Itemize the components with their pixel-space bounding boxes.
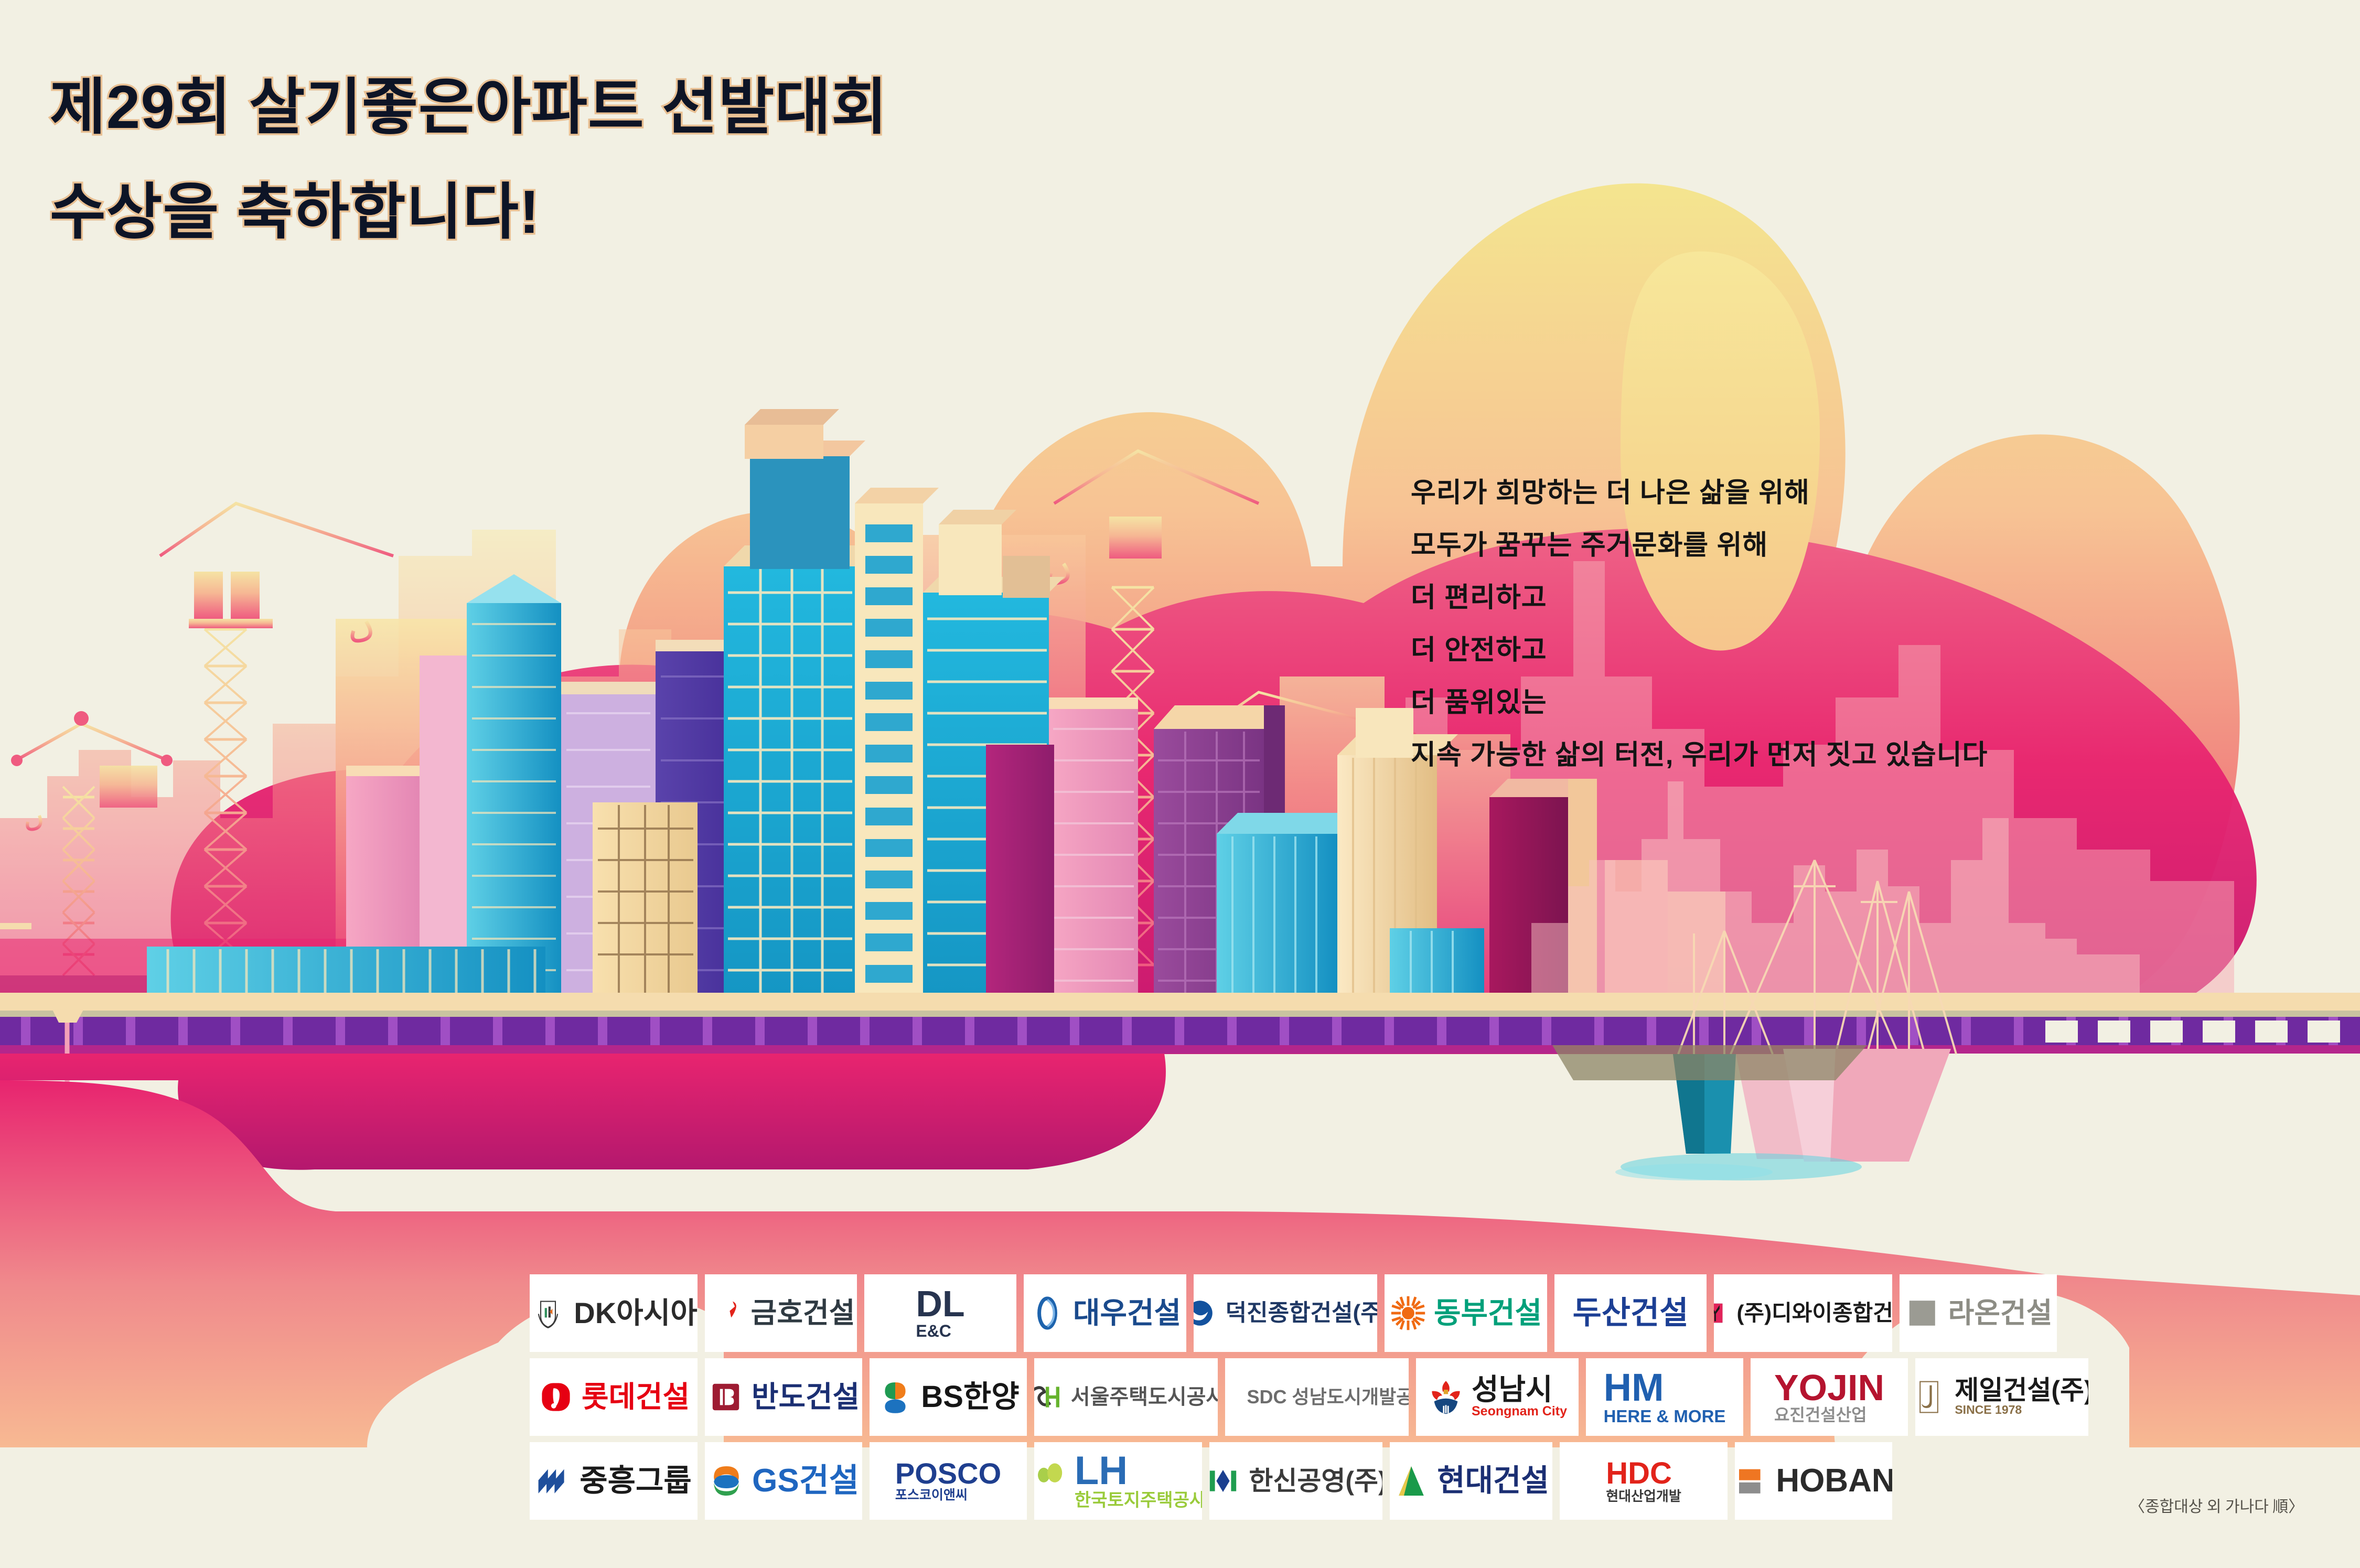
poster-canvas: 제29회 살기좋은아파트 선발대회 수상을 축하합니다! 우리가 희망하는 더 … — [0, 0, 2360, 1568]
logo-cell[interactable]: YOJIN요진건설산업 — [1751, 1358, 1908, 1436]
logo-subtitle: E&C — [916, 1322, 951, 1340]
logo-cell[interactable]: 금호건설 — [705, 1274, 857, 1352]
logo-text-stack: 중흥그룹 — [580, 1466, 691, 1496]
logo-text-stack: HDC현대산업개발 — [1606, 1458, 1681, 1504]
logo-text-stack: HOBAN — [1776, 1465, 1892, 1497]
logo-cell[interactable]: 현대건설 — [1390, 1442, 1552, 1520]
logo-name: 덕진종합건설(주) — [1226, 1302, 1377, 1325]
logo-cell[interactable]: DLE&C — [864, 1274, 1016, 1352]
logo-text-stack: HMHERE & MORE — [1604, 1368, 1726, 1426]
logo-cell[interactable]: HOBAN — [1735, 1442, 1892, 1520]
logo-cell[interactable]: HMHERE & MORE — [1586, 1358, 1743, 1436]
logo-name: 두산건설 — [1573, 1297, 1689, 1329]
bs-tricolor-swirl-icon — [877, 1379, 914, 1415]
hanshin-bars-icon — [1209, 1463, 1241, 1499]
logo-cell[interactable]: 중흥그룹 — [530, 1442, 698, 1520]
logo-cell[interactable]: GS건설 — [705, 1442, 862, 1520]
logo-name: HDC — [1606, 1458, 1672, 1489]
logo-text-stack: 한신공영(주) — [1249, 1468, 1382, 1494]
logo-text-stack: 반도건설 — [752, 1382, 860, 1412]
logo-text-stack: BS한양 — [921, 1382, 1019, 1412]
logo-name: LH — [1075, 1451, 1128, 1491]
logo-text-stack: 대우건설 — [1073, 1298, 1181, 1328]
body-copy: 우리가 희망하는 더 나은 삶을 위해 모두가 꿈꾸는 주거문화를 위해 더 편… — [1411, 467, 2302, 781]
logo-name: YOJIN — [1774, 1369, 1884, 1406]
logo-subtitle: 요진건설산업 — [1774, 1406, 1867, 1424]
logo-text-stack: 두산건설 — [1573, 1297, 1689, 1329]
logo-name: 대우건설 — [1073, 1298, 1181, 1328]
logo-text-stack: 라온건설 — [1948, 1299, 2053, 1327]
logo-text-stack: 현대건설 — [1437, 1466, 1549, 1496]
logo-cell[interactable]: 제일건설(주)SINCE 1978 — [1915, 1358, 2088, 1436]
logo-text-stack: 성남시Seongnam City — [1472, 1375, 1567, 1419]
logo-text-stack: DLE&C — [916, 1285, 964, 1340]
logo-cell[interactable]: DK아시아 — [530, 1274, 698, 1352]
jeil-j-seal-icon — [1915, 1379, 1947, 1415]
logo-name: 롯데건설 — [582, 1382, 690, 1412]
logo-cell[interactable]: HDC현대산업개발 — [1560, 1442, 1728, 1520]
logo-row: 롯데건설 반도건설 BS한양 서울주택도시공사 SDC 성남도시개발공사 — [530, 1358, 2308, 1436]
dy-block-icon — [1714, 1295, 1729, 1331]
gs-swirl-icon — [708, 1463, 745, 1499]
kumho-red-tick-icon — [707, 1295, 744, 1331]
sdc-half-circles-icon — [1225, 1379, 1240, 1415]
logo-name: BS한양 — [921, 1382, 1019, 1412]
logo-name: 중흥그룹 — [580, 1466, 691, 1496]
logo-name: 서울주택도시공사 — [1071, 1387, 1218, 1408]
logo-text-stack: LH한국토지주택공사 — [1075, 1451, 1202, 1510]
logo-cell[interactable]: 서울주택도시공사 — [1034, 1358, 1218, 1436]
sh-logotype-icon — [1034, 1379, 1064, 1415]
body-line-2: 모두가 꿈꾸는 주거문화를 위해 — [1411, 519, 2302, 572]
logo-cell[interactable]: 성남시Seongnam City — [1416, 1358, 1579, 1436]
logo-subtitle: HERE & MORE — [1604, 1407, 1726, 1426]
logo-subtitle: 포스코이앤씨 — [895, 1488, 968, 1503]
logo-name: DL — [916, 1285, 964, 1322]
logo-cell[interactable]: 덕진종합건설(주) — [1194, 1274, 1377, 1352]
logo-text-stack: POSCO포스코이앤씨 — [895, 1459, 1001, 1503]
logo-cell[interactable]: 라온건설 — [1900, 1274, 2057, 1352]
dongbu-sun-icon — [1390, 1295, 1426, 1331]
logo-cell[interactable]: 반도건설 — [705, 1358, 862, 1436]
logo-cell[interactable]: POSCO포스코이앤씨 — [870, 1442, 1027, 1520]
logo-text-stack: YOJIN요진건설산업 — [1774, 1369, 1884, 1424]
logo-name: HOBAN — [1776, 1465, 1892, 1497]
jungheung-arch-icon — [535, 1463, 572, 1499]
logo-name: HM — [1604, 1368, 1664, 1407]
hoban-squares-icon — [1735, 1463, 1768, 1499]
logo-name: POSCO — [895, 1459, 1001, 1488]
body-line-6: 지속 가능한 삶의 터전, 우리가 먼저 짓고 있습니다 — [1411, 729, 2302, 781]
logo-text-stack: GS건설 — [752, 1465, 859, 1497]
body-line-4: 더 안전하고 — [1411, 624, 2302, 676]
logo-text-stack: 서울주택도시공사 — [1071, 1387, 1218, 1408]
logo-name: 라온건설 — [1948, 1299, 2053, 1327]
lotte-red-drop-icon — [538, 1379, 574, 1415]
logo-cell[interactable]: 롯데건설 — [530, 1358, 698, 1436]
logo-name: 동부건설 — [1434, 1298, 1542, 1328]
logo-name: 금호건설 — [751, 1299, 855, 1327]
logo-text-stack: 롯데건설 — [582, 1382, 690, 1412]
headline-line-2: 수상을 축하합니다! — [50, 163, 540, 251]
logo-cell[interactable]: BS한양 — [870, 1358, 1027, 1436]
body-line-3: 더 편리하고 — [1411, 572, 2302, 624]
logo-name: 제일건설(주) — [1955, 1377, 2088, 1403]
headline-line-1: 제29회 살기좋은아파트 선발대회 — [50, 58, 888, 146]
hyundai-triangle-icon — [1393, 1463, 1430, 1499]
body-line-1: 우리가 희망하는 더 나은 삶을 위해 — [1411, 467, 2302, 519]
logo-cell[interactable]: LH한국토지주택공사 — [1034, 1442, 1202, 1520]
logo-name: 한신공영(주) — [1249, 1468, 1382, 1494]
logo-text-stack: DK아시아 — [574, 1298, 697, 1328]
logo-subtitle: 한국토지주택공사 — [1075, 1491, 1202, 1510]
logo-text-stack: 금호건설 — [751, 1299, 855, 1327]
logo-name: SDC 성남도시개발공사 — [1247, 1388, 1409, 1406]
left-boat — [0, 923, 31, 929]
logo-name: GS건설 — [752, 1465, 859, 1497]
logo-text-stack: (주)디와이종합건설 — [1736, 1302, 1892, 1324]
deokjin-circle-icon — [1194, 1295, 1218, 1331]
podium-row — [0, 939, 545, 996]
sponsor-logo-grid: DK아시아금호건설DLE&C 대우건설덕진종합건설(주) 동부건설두산건설 (주… — [530, 1274, 2308, 1520]
logo-order-footnote: 〈종합대상 외 가나다 順〉 — [2129, 1494, 2304, 1517]
dk-shield-emblem-icon — [530, 1295, 566, 1331]
logo-text-stack: 동부건설 — [1434, 1298, 1542, 1328]
logo-text-stack: 덕진종합건설(주) — [1226, 1302, 1377, 1325]
logo-subtitle: SINCE 1978 — [1955, 1403, 2022, 1416]
logo-subtitle: 현대산업개발 — [1606, 1489, 1681, 1504]
logo-name: 성남시 — [1472, 1375, 1553, 1404]
logo-name: 반도건설 — [752, 1382, 860, 1412]
logo-cell[interactable]: 동부건설 — [1385, 1274, 1547, 1352]
logo-cell[interactable]: 두산건설 — [1554, 1274, 1707, 1352]
logo-cell[interactable]: (주)디와이종합건설 — [1714, 1274, 1892, 1352]
logo-subtitle: Seongnam City — [1472, 1404, 1567, 1419]
logo-cell[interactable]: 대우건설 — [1024, 1274, 1186, 1352]
seongnam-flower-icon — [1428, 1379, 1464, 1415]
logo-row: DK아시아금호건설DLE&C 대우건설덕진종합건설(주) 동부건설두산건설 (주… — [530, 1274, 2308, 1352]
body-line-5: 더 품위있는 — [1411, 676, 2302, 729]
raon-ra-on-icon — [1904, 1295, 1941, 1331]
logo-cell[interactable]: 한신공영(주) — [1209, 1442, 1382, 1520]
bando-b-badge-icon — [707, 1379, 744, 1415]
logo-name: (주)디와이종합건설 — [1736, 1302, 1892, 1324]
lh-leaf-icon — [1034, 1463, 1067, 1499]
logo-name: DK아시아 — [574, 1298, 697, 1328]
logo-cell[interactable]: SDC 성남도시개발공사 — [1225, 1358, 1409, 1436]
logo-name: 현대건설 — [1437, 1466, 1549, 1496]
logo-row: 중흥그룹 GS건설POSCO포스코이앤씨 LH한국토지주택공사 한신공영(주) … — [530, 1442, 2308, 1520]
daewoo-blue-d-icon — [1029, 1295, 1066, 1331]
logo-text-stack: SDC 성남도시개발공사 — [1247, 1388, 1409, 1406]
logo-text-stack: 제일건설(주)SINCE 1978 — [1955, 1377, 2088, 1416]
